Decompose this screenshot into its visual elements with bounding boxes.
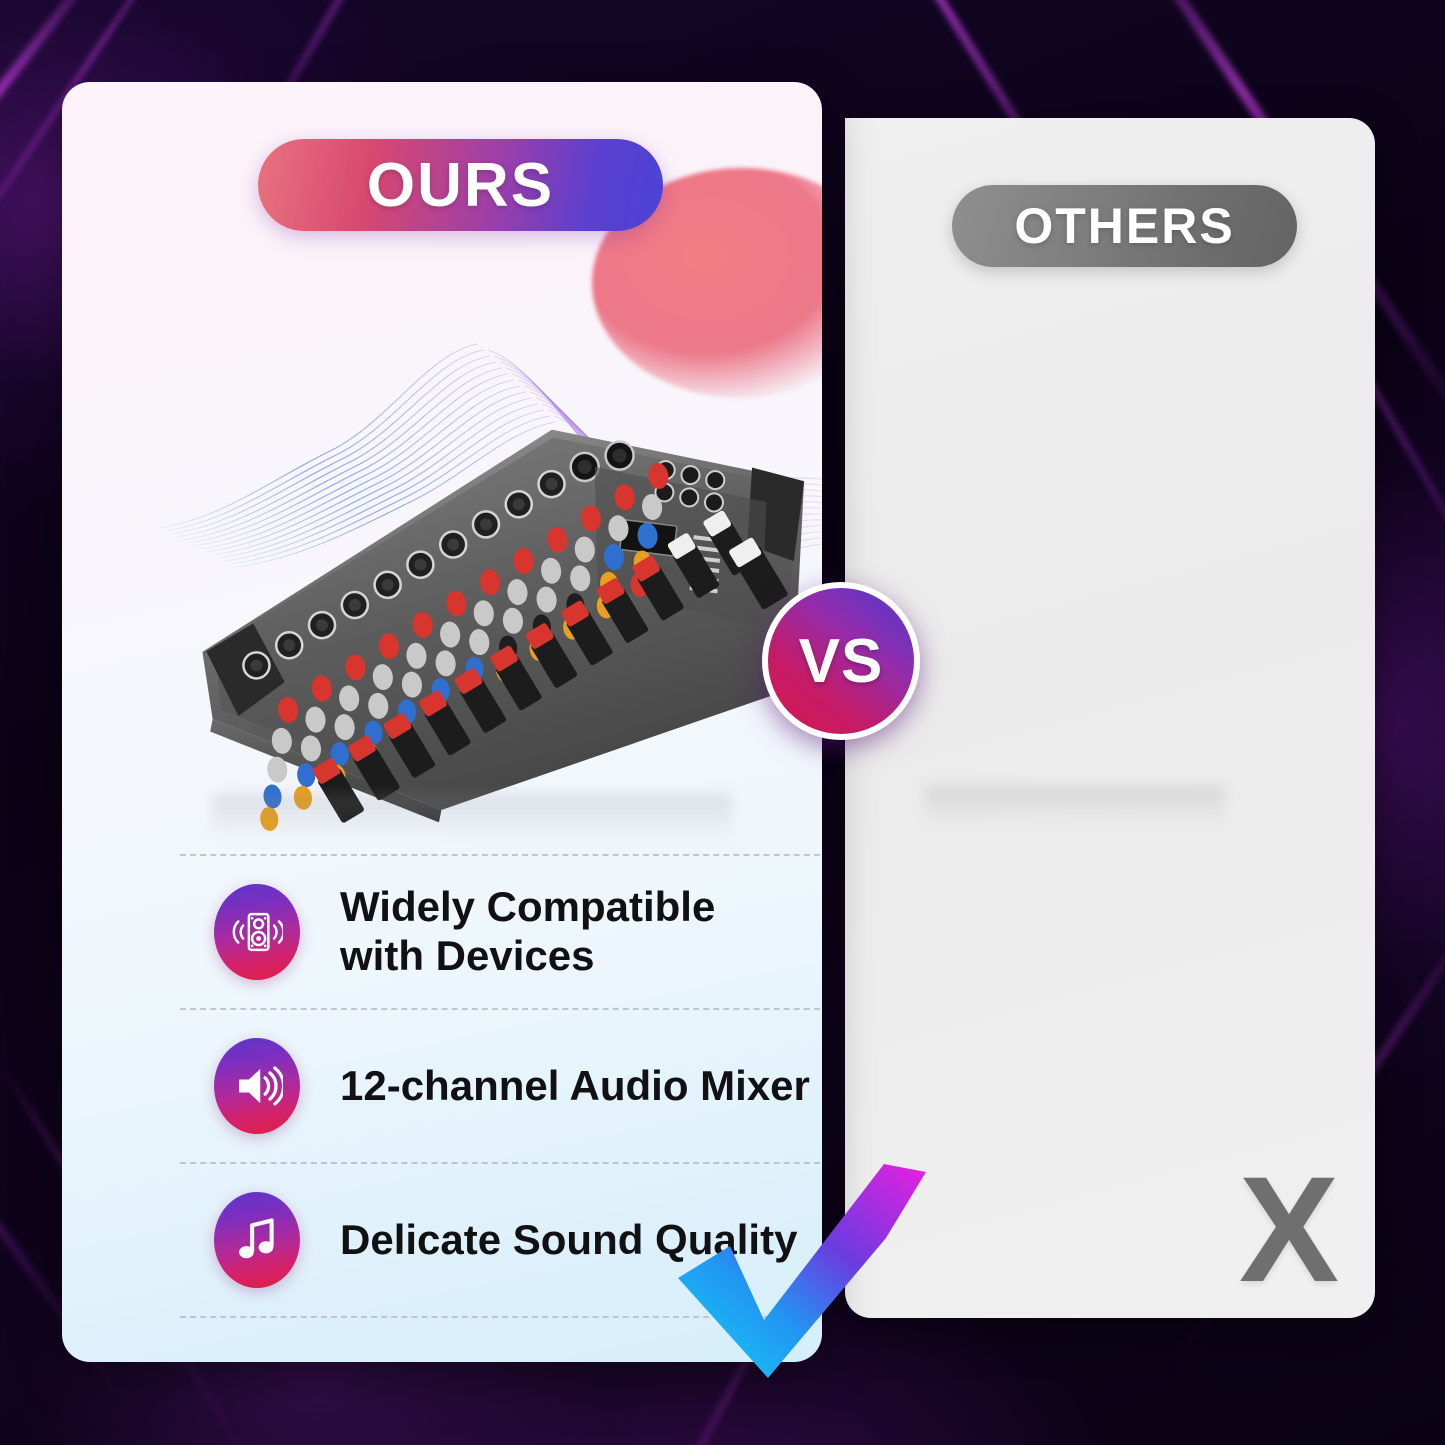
- ours-badge: OURS: [258, 139, 663, 231]
- large-x-watermark: X: [1239, 1154, 1339, 1304]
- divider: [180, 1008, 822, 1010]
- divider: [180, 854, 822, 856]
- ours-product-image: [156, 343, 822, 850]
- volume-up-icon: [214, 1038, 300, 1134]
- speaker-waves-icon: [214, 884, 300, 980]
- music-note-icon: [214, 1192, 300, 1288]
- comparison-infographic: 88 X Limited Device Compatibility: [0, 0, 1445, 1445]
- list-item: Widely Compatible with Devices: [180, 856, 822, 1008]
- product-reflection: [925, 786, 1225, 826]
- list-item-label: 12-channel Audio Mixer: [340, 1062, 810, 1111]
- others-card: 88 X Limited Device Compatibility: [845, 118, 1375, 1318]
- list-item: Delicate Sound Quality: [180, 1164, 822, 1316]
- divider: [180, 1316, 822, 1318]
- others-badge: OTHERS: [952, 185, 1297, 267]
- divider: [180, 1162, 822, 1164]
- product-reflection: [212, 794, 732, 842]
- vs-badge: VS: [762, 582, 920, 740]
- list-item: 12-channel Audio Mixer: [180, 1010, 822, 1162]
- ours-feature-list: Widely Compatible with Devices 12-channe…: [180, 854, 822, 1318]
- list-item-label: Widely Compatible with Devices: [340, 883, 715, 980]
- list-item-label: Delicate Sound Quality: [340, 1216, 797, 1265]
- ours-card: Widely Compatible with Devices 12-channe…: [62, 82, 822, 1362]
